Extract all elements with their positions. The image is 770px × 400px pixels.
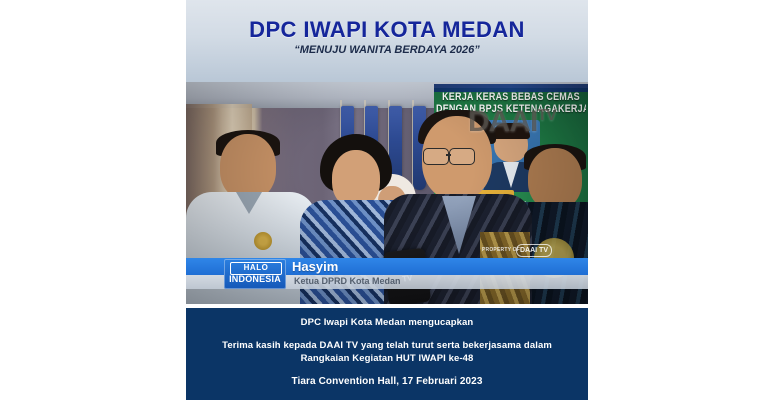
poster-card: DPC IWAPI KOTA MEDAN “MENUJU WANITA BERD… <box>186 0 588 400</box>
video-frame[interactable]: KERJA KERAS BEBAS CEMAS DENGAN BPJS KETE… <box>186 82 588 304</box>
footer-line-3: Tiara Convention Hall, 17 Februari 2023 <box>186 376 588 387</box>
footer-line-2: Terima kasih kepada DAAI TV yang telah t… <box>186 339 588 365</box>
watermark-suffix: TV <box>537 107 555 124</box>
footer-line-2a: Terima kasih kepada DAAI TV yang telah t… <box>222 340 552 351</box>
halo-indonesia-logo: HALO INDONESIA <box>224 259 286 289</box>
header-band: DPC IWAPI KOTA MEDAN “MENUJU WANITA BERD… <box>186 0 588 82</box>
speaker-name: Hasyim <box>292 259 338 274</box>
daai-tv-watermark: DAAITV <box>468 102 556 136</box>
footer-line-2b: Rangkaian Kegiatan HUT IWAPI ke-48 <box>301 353 474 364</box>
property-daai-logo: DAAI TV <box>516 244 552 257</box>
property-of-label: PROPERTY OF <box>482 247 520 253</box>
page-subtitle: “MENUJU WANITA BERDAYA 2026” <box>186 44 588 56</box>
indonesia-logo-text: INDONESIA <box>226 274 284 285</box>
poster-page: DPC IWAPI KOTA MEDAN “MENUJU WANITA BERD… <box>0 0 770 400</box>
footer-line-1: DPC Iwapi Kota Medan mengucapkan <box>186 317 588 328</box>
speaker-role: Ketua DPRD Kota Medan <box>294 276 401 286</box>
lower-third-overlay: HALO INDONESIA Hasyim Ketua DPRD Kota Me… <box>186 258 588 292</box>
footer-panel: DPC Iwapi Kota Medan mengucapkan Terima … <box>186 308 588 400</box>
page-title: DPC IWAPI KOTA MEDAN <box>186 17 588 43</box>
watermark-main: DAAI <box>468 105 537 138</box>
